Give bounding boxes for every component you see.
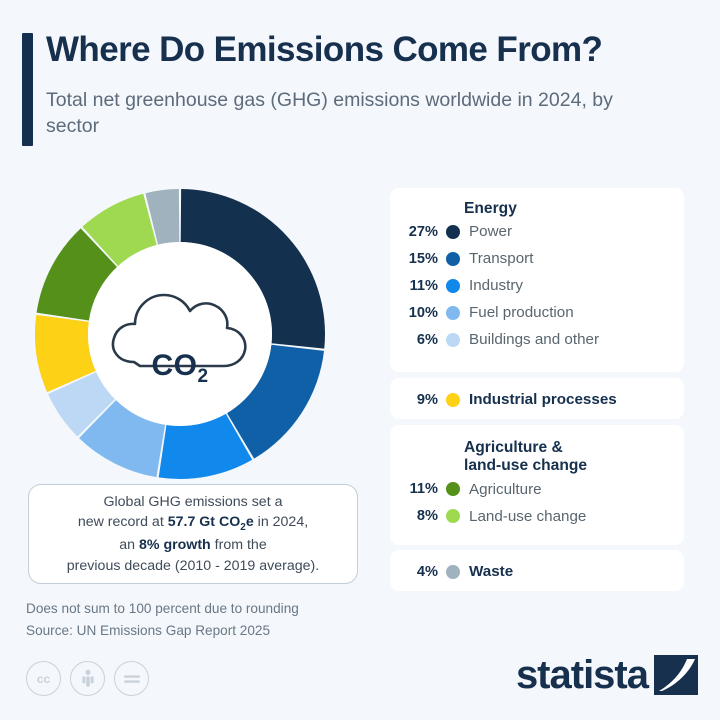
legend-item-label: Waste <box>469 563 513 580</box>
donut-hole <box>88 242 272 426</box>
legend-color-swatch-icon <box>446 509 460 523</box>
cc-by-person-icon[interactable] <box>70 661 105 696</box>
page-title: Where Do Emissions Come From? <box>46 31 706 69</box>
callout-total-value: 57.7 Gt CO2e <box>168 514 254 530</box>
legend-color-swatch-icon <box>446 482 460 496</box>
legend-card-industrial-processes: 9%Industrial processes <box>390 378 684 419</box>
title-accent-bar <box>22 33 33 146</box>
infographic-page: Where Do Emissions Come From? Total net … <box>0 0 720 720</box>
legend-group-heading-line-1: land-use change <box>464 457 684 475</box>
legend-card-waste: 4%Waste <box>390 550 684 591</box>
legend-color-swatch-icon <box>446 225 460 239</box>
legend-color-swatch-icon <box>446 565 460 579</box>
legend-item-land-use-change[interactable]: 8%Land-use change <box>390 503 684 530</box>
legend-item-label: Land-use change <box>469 508 586 525</box>
statista-logo[interactable]: statista <box>516 655 698 695</box>
cc-icon[interactable]: cc <box>26 661 61 696</box>
legend-color-swatch-icon <box>446 393 460 407</box>
legend-item-percent: 9% <box>390 392 446 408</box>
callout-line4: previous decade (2010 - 2019 average). <box>67 558 319 574</box>
callout-line2-pre: new record at <box>78 514 168 530</box>
callout-line1: Global GHG emissions set a <box>103 494 282 510</box>
creative-commons-icons: cc <box>26 661 149 696</box>
legend-item-label: Agriculture <box>469 481 542 498</box>
legend-item-transport[interactable]: 15%Transport <box>390 245 684 272</box>
legend-group-heading: Agriculture &land-use change <box>390 425 684 476</box>
callout-growth-value: 8% growth <box>139 537 211 553</box>
equals-glyph <box>123 673 141 685</box>
legend-item-percent: 4% <box>390 564 446 580</box>
legend-item-percent: 11% <box>390 278 446 294</box>
legend-item-label: Industrial processes <box>469 391 617 408</box>
callout-line2-post: in 2024, <box>254 514 308 530</box>
legend-group-heading-line-0: Agriculture & <box>464 439 684 457</box>
legend-item-percent: 27% <box>390 224 446 240</box>
legend-card-energy: Energy27%Power15%Transport11%Industry10%… <box>390 188 684 372</box>
legend-item-percent: 11% <box>390 481 446 497</box>
legend-item-label: Fuel production <box>469 304 574 321</box>
legend-item-waste[interactable]: 4%Waste <box>390 558 684 585</box>
legend-item-fuel-production[interactable]: 10%Fuel production <box>390 299 684 326</box>
legend-group-heading: Energy <box>390 188 684 218</box>
legend-item-label: Buildings and other <box>469 331 599 348</box>
legend-color-swatch-icon <box>446 252 460 266</box>
source-note: Source: UN Emissions Gap Report 2025 <box>26 623 270 638</box>
legend-item-percent: 10% <box>390 305 446 321</box>
legend-item-label: Power <box>469 223 512 240</box>
legend-item-power[interactable]: 27%Power <box>390 218 684 245</box>
legend-item-industry[interactable]: 11%Industry <box>390 272 684 299</box>
legend-color-swatch-icon <box>446 306 460 320</box>
callout-line3-post: from the <box>211 537 267 553</box>
legend-item-agriculture[interactable]: 11%Agriculture <box>390 476 684 503</box>
legend-item-industrial-processes[interactable]: 9%Industrial processes <box>390 386 684 413</box>
stat-callout-box: Global GHG emissions set a new record at… <box>28 484 358 584</box>
legend-item-label: Transport <box>469 250 533 267</box>
person-glyph <box>81 669 95 689</box>
legend-spacer <box>390 378 684 386</box>
callout-line3-pre: an <box>119 537 139 553</box>
donut-chart-svg <box>32 186 328 482</box>
legend-color-swatch-icon <box>446 279 460 293</box>
statista-wordmark: statista <box>516 655 648 695</box>
legend-group-heading-line-0: Energy <box>464 200 684 218</box>
legend-card-agriculture-: Agriculture &land-use change11%Agricultu… <box>390 425 684 545</box>
statista-mark-icon <box>654 655 698 695</box>
page-subtitle: Total net greenhouse gas (GHG) emissions… <box>46 88 666 140</box>
legend-item-percent: 8% <box>390 508 446 524</box>
legend-color-swatch-icon <box>446 333 460 347</box>
legend-spacer <box>390 550 684 558</box>
rounding-note: Does not sum to 100 percent due to round… <box>26 601 299 616</box>
legend-item-percent: 15% <box>390 251 446 267</box>
cc-nd-equals-icon[interactable] <box>114 661 149 696</box>
legend-item-buildings-and-other[interactable]: 6%Buildings and other <box>390 326 684 353</box>
donut-chart: CO2 <box>32 186 328 482</box>
legend-item-label: Industry <box>469 277 523 294</box>
stat-callout-text: Global GHG emissions set a new record at… <box>53 492 333 575</box>
legend-item-percent: 6% <box>390 332 446 348</box>
